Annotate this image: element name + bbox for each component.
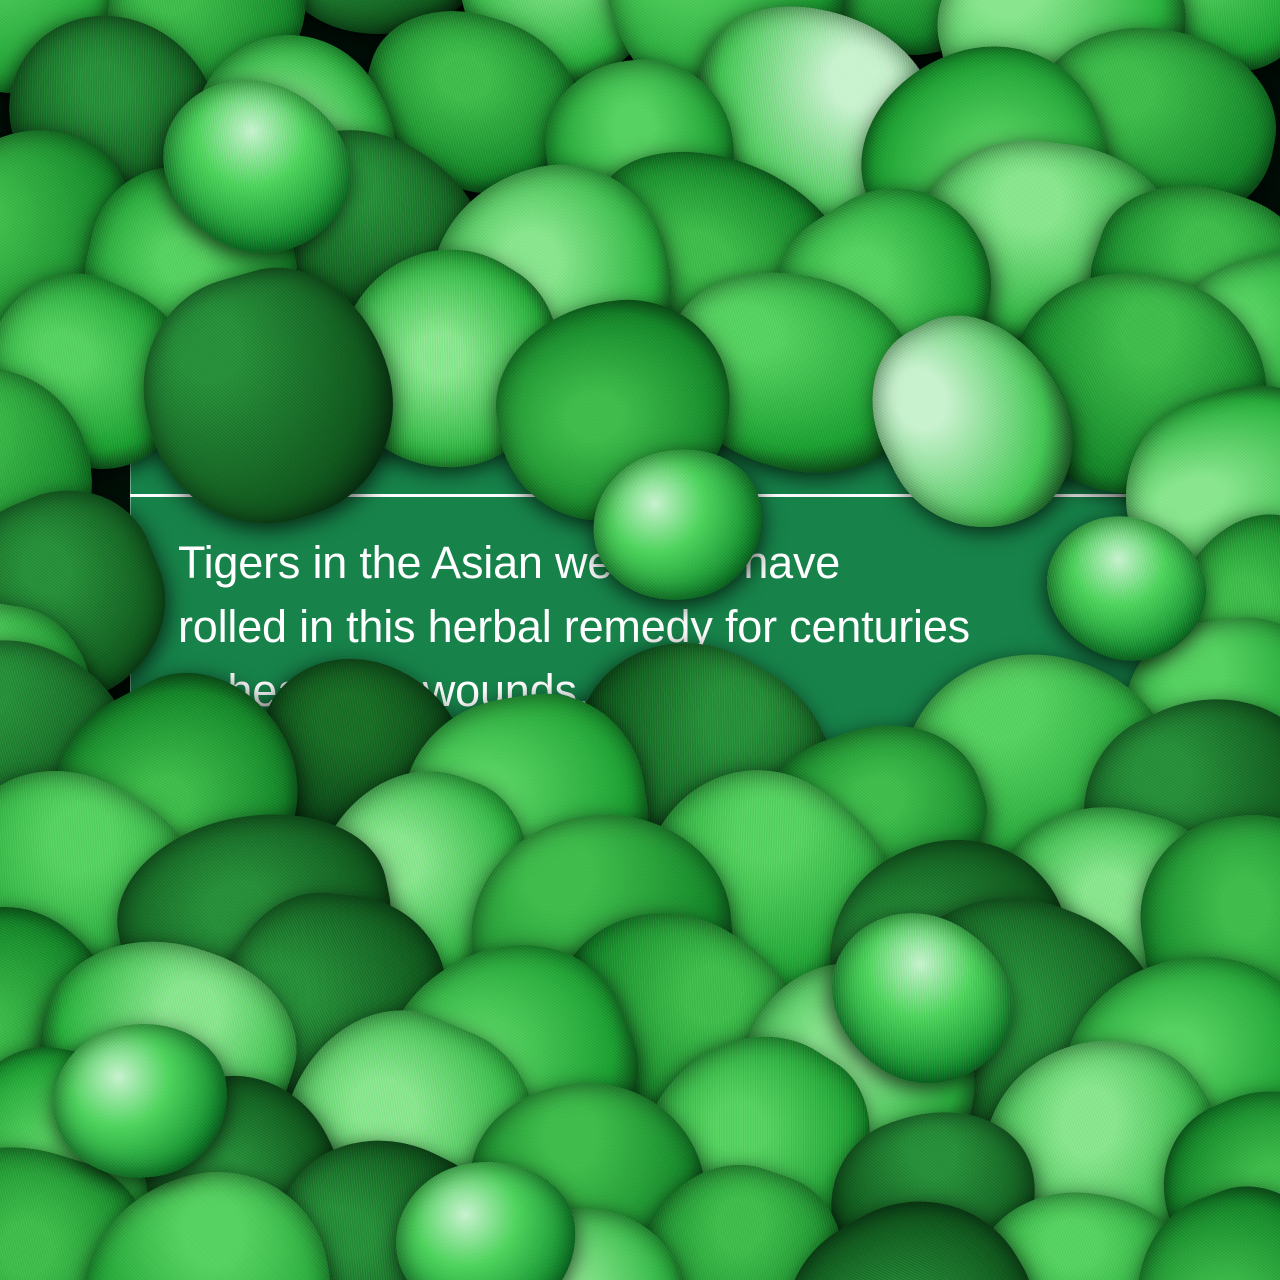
poster: SPOTLIGHT ON: Tiger Grass (AKA CICA) Tig… (0, 0, 1280, 1280)
